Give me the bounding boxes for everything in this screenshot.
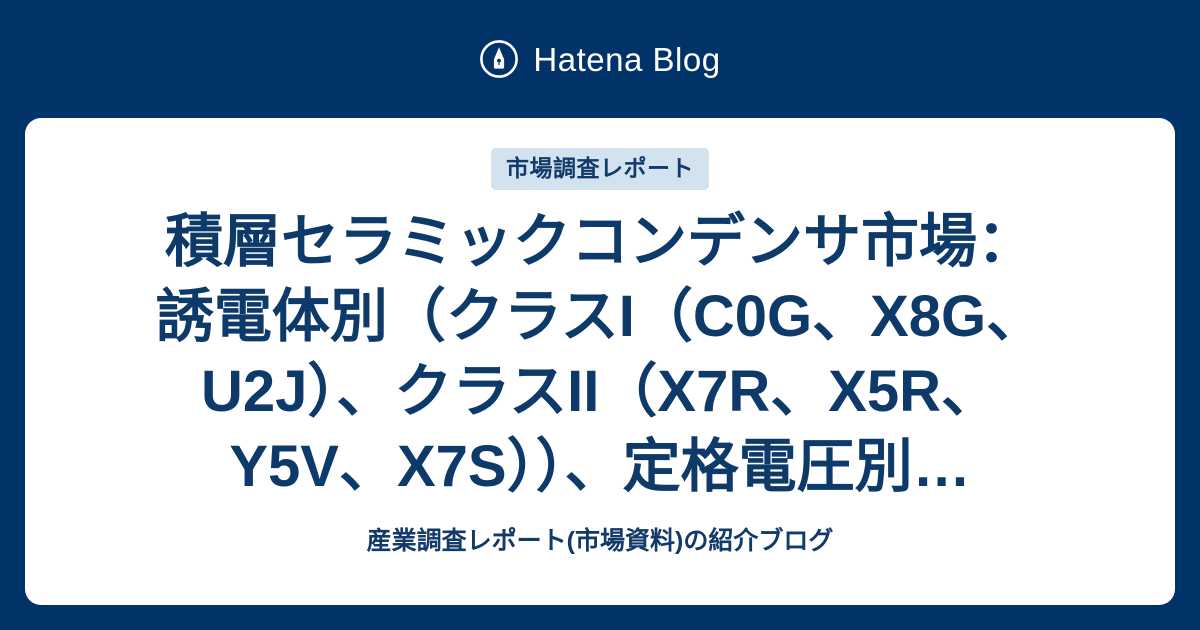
- brand-name: Hatena Blog: [533, 43, 720, 76]
- category-badge-row: 市場調査レポート: [85, 148, 1115, 190]
- og-image-canvas: Hatena Blog 市場調査レポート 積層セラミックコンデンサ市場： 誘電体…: [0, 0, 1200, 630]
- entry-title-line-2: 誘電体別（クラスI（C0G、X8G、: [85, 279, 1115, 354]
- blog-subtitle: 産業調査レポート(市場資料)の紹介ブログ: [85, 526, 1115, 556]
- hatena-blog-logo: [479, 39, 519, 79]
- category-badge[interactable]: 市場調査レポート: [491, 148, 709, 190]
- fountain-pen-nib-circle-icon: [479, 39, 519, 79]
- entry-title-line-3: U2J）、クラスII（X7R、X5R、: [85, 354, 1115, 429]
- entry-title-line-4: Y5V、X7S））、定格電圧別…: [85, 429, 1115, 504]
- entry-title: 積層セラミックコンデンサ市場： 誘電体別（クラスI（C0G、X8G、 U2J）、…: [85, 204, 1115, 504]
- brand-header: Hatena Blog: [0, 0, 1200, 118]
- entry-title-line-1: 積層セラミックコンデンサ市場：: [85, 204, 1115, 279]
- entry-card: 市場調査レポート 積層セラミックコンデンサ市場： 誘電体別（クラスI（C0G、X…: [25, 118, 1175, 605]
